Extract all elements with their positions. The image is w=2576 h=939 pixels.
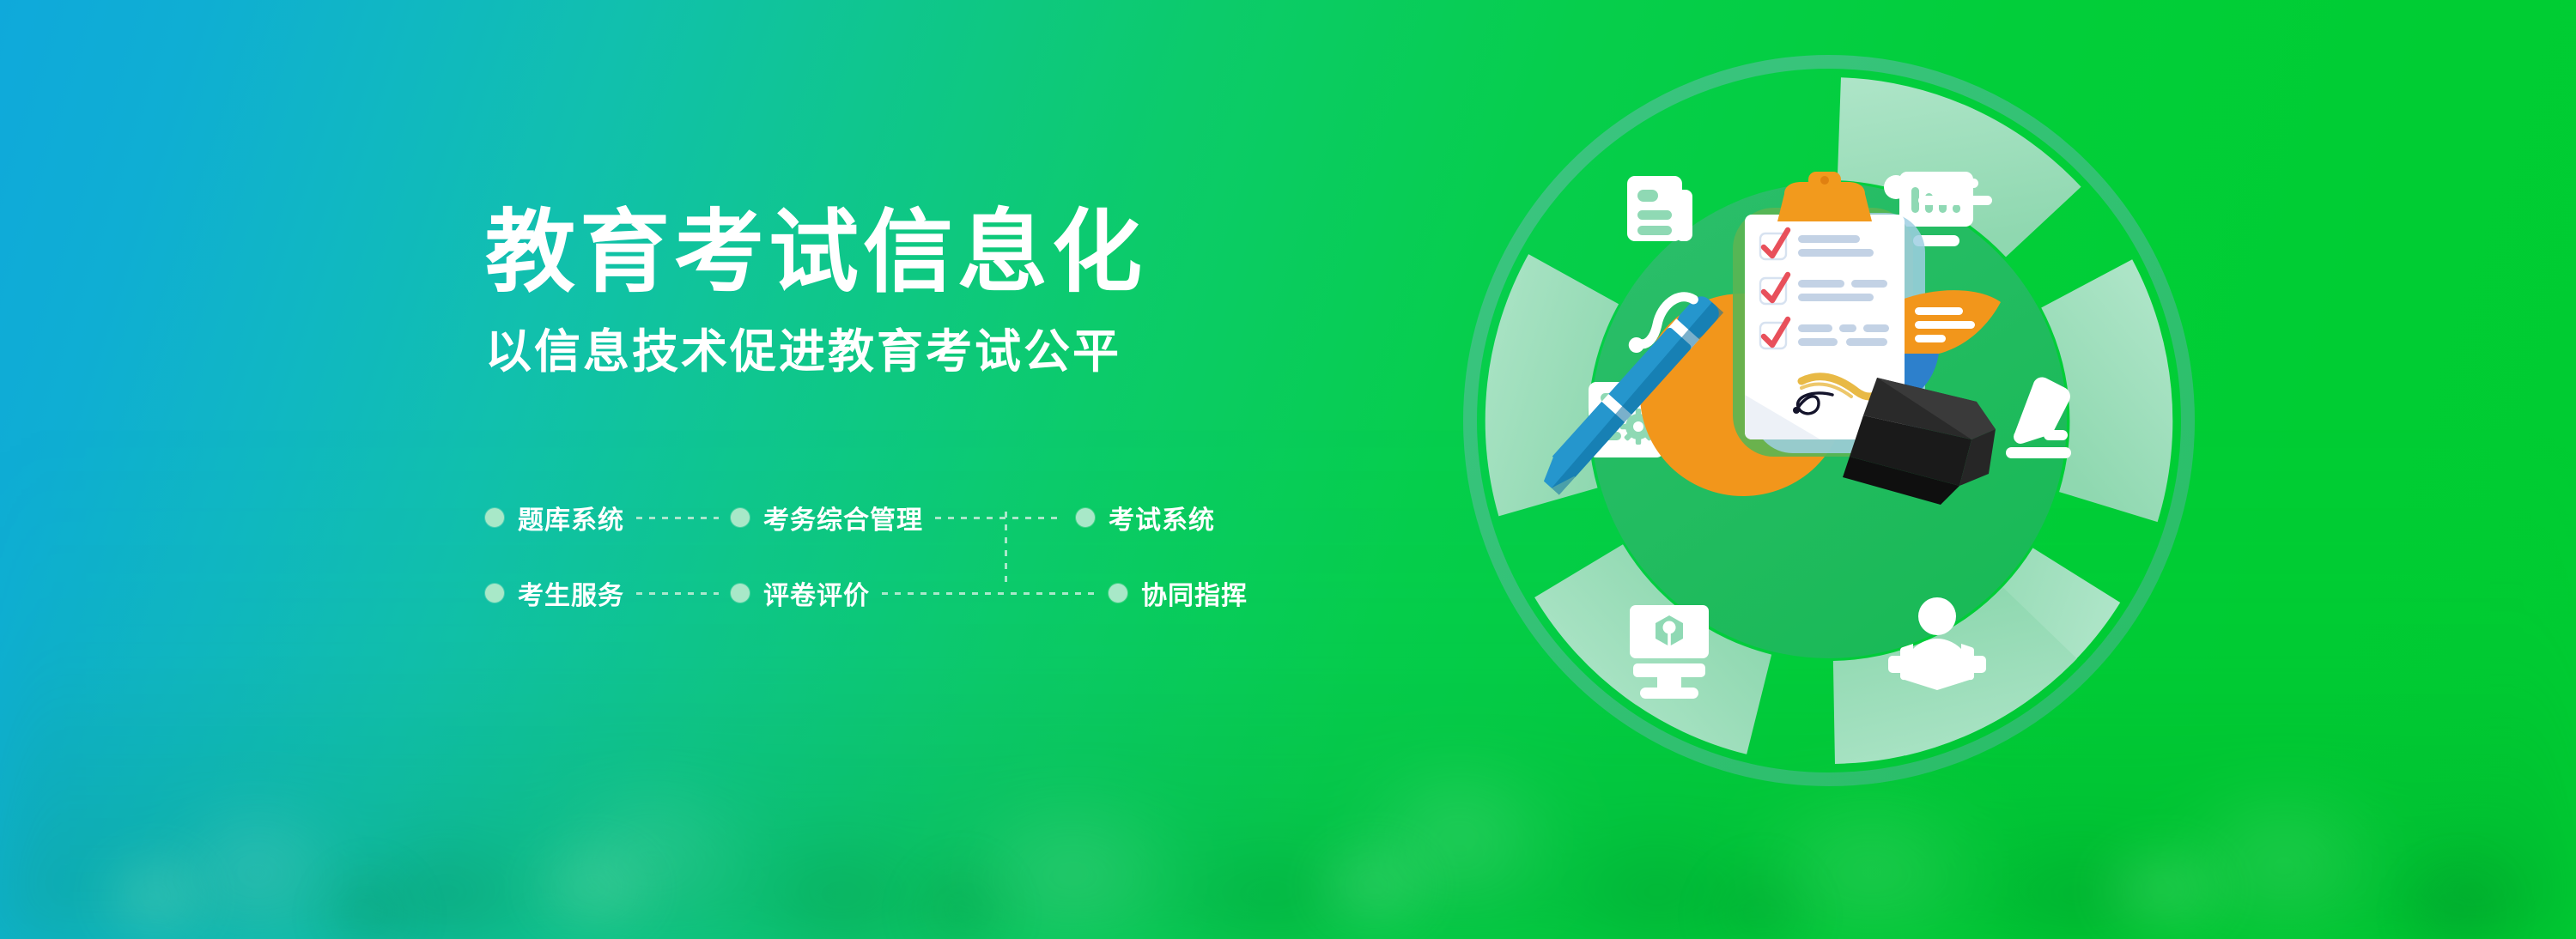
feature-item-kaoshi[interactable]: 考试系统 xyxy=(1076,499,1215,536)
feature-item-pingjuan[interactable]: 评卷评价 xyxy=(731,574,870,612)
dotted-connector xyxy=(636,517,719,519)
feature-label: 考生服务 xyxy=(518,574,624,612)
feature-label: 协同指挥 xyxy=(1141,574,1248,612)
feature-label: 题库系统 xyxy=(518,499,624,536)
feature-list: 题库系统 考务综合管理 考试系统 考生服务 评卷评价 xyxy=(485,494,1248,617)
feature-row: 题库系统 考务综合管理 考试系统 xyxy=(485,494,1248,542)
leaf-line xyxy=(1915,307,1963,315)
feature-label: 评卷评价 xyxy=(763,574,870,612)
bullet-dot-icon xyxy=(485,508,504,527)
feature-label: 考试系统 xyxy=(1109,499,1215,536)
feature-item-tiku[interactable]: 题库系统 xyxy=(485,499,624,536)
bullet-dot-icon xyxy=(1109,584,1127,603)
feature-row: 考生服务 评卷评价 协同指挥 xyxy=(485,569,1248,617)
exam-system-wheel-graphic xyxy=(1460,51,2198,790)
feature-item-xietong[interactable]: 协同指挥 xyxy=(1109,574,1248,612)
dotted-connector xyxy=(636,592,719,595)
document-icon xyxy=(1627,176,1692,241)
banner-headline: 教育考试信息化 xyxy=(485,203,1146,304)
bullet-dot-icon xyxy=(731,508,750,527)
leaf-line xyxy=(1915,321,1975,329)
dotted-connector xyxy=(935,517,1064,519)
dotted-connector-vertical xyxy=(1005,512,1007,587)
banner-subhead: 以信息技术促进教育考试公平 xyxy=(485,324,1146,380)
bullet-dot-icon xyxy=(1076,508,1095,527)
feature-label: 考务综合管理 xyxy=(763,499,923,536)
feature-item-kaosheng[interactable]: 考生服务 xyxy=(485,574,624,612)
bullet-dot-icon xyxy=(731,584,750,603)
feature-item-kaowu[interactable]: 考务综合管理 xyxy=(731,499,923,536)
hero-banner: 教育考试信息化 以信息技术促进教育考试公平 题库系统 考务综合管理 考试系统 考… xyxy=(0,0,2576,939)
dotted-connector xyxy=(882,592,1097,595)
leaf-line xyxy=(1915,335,1946,342)
bullet-dot-icon xyxy=(485,584,504,603)
banner-copy: 教育考试信息化 以信息技术促进教育考试公平 xyxy=(485,203,1146,379)
